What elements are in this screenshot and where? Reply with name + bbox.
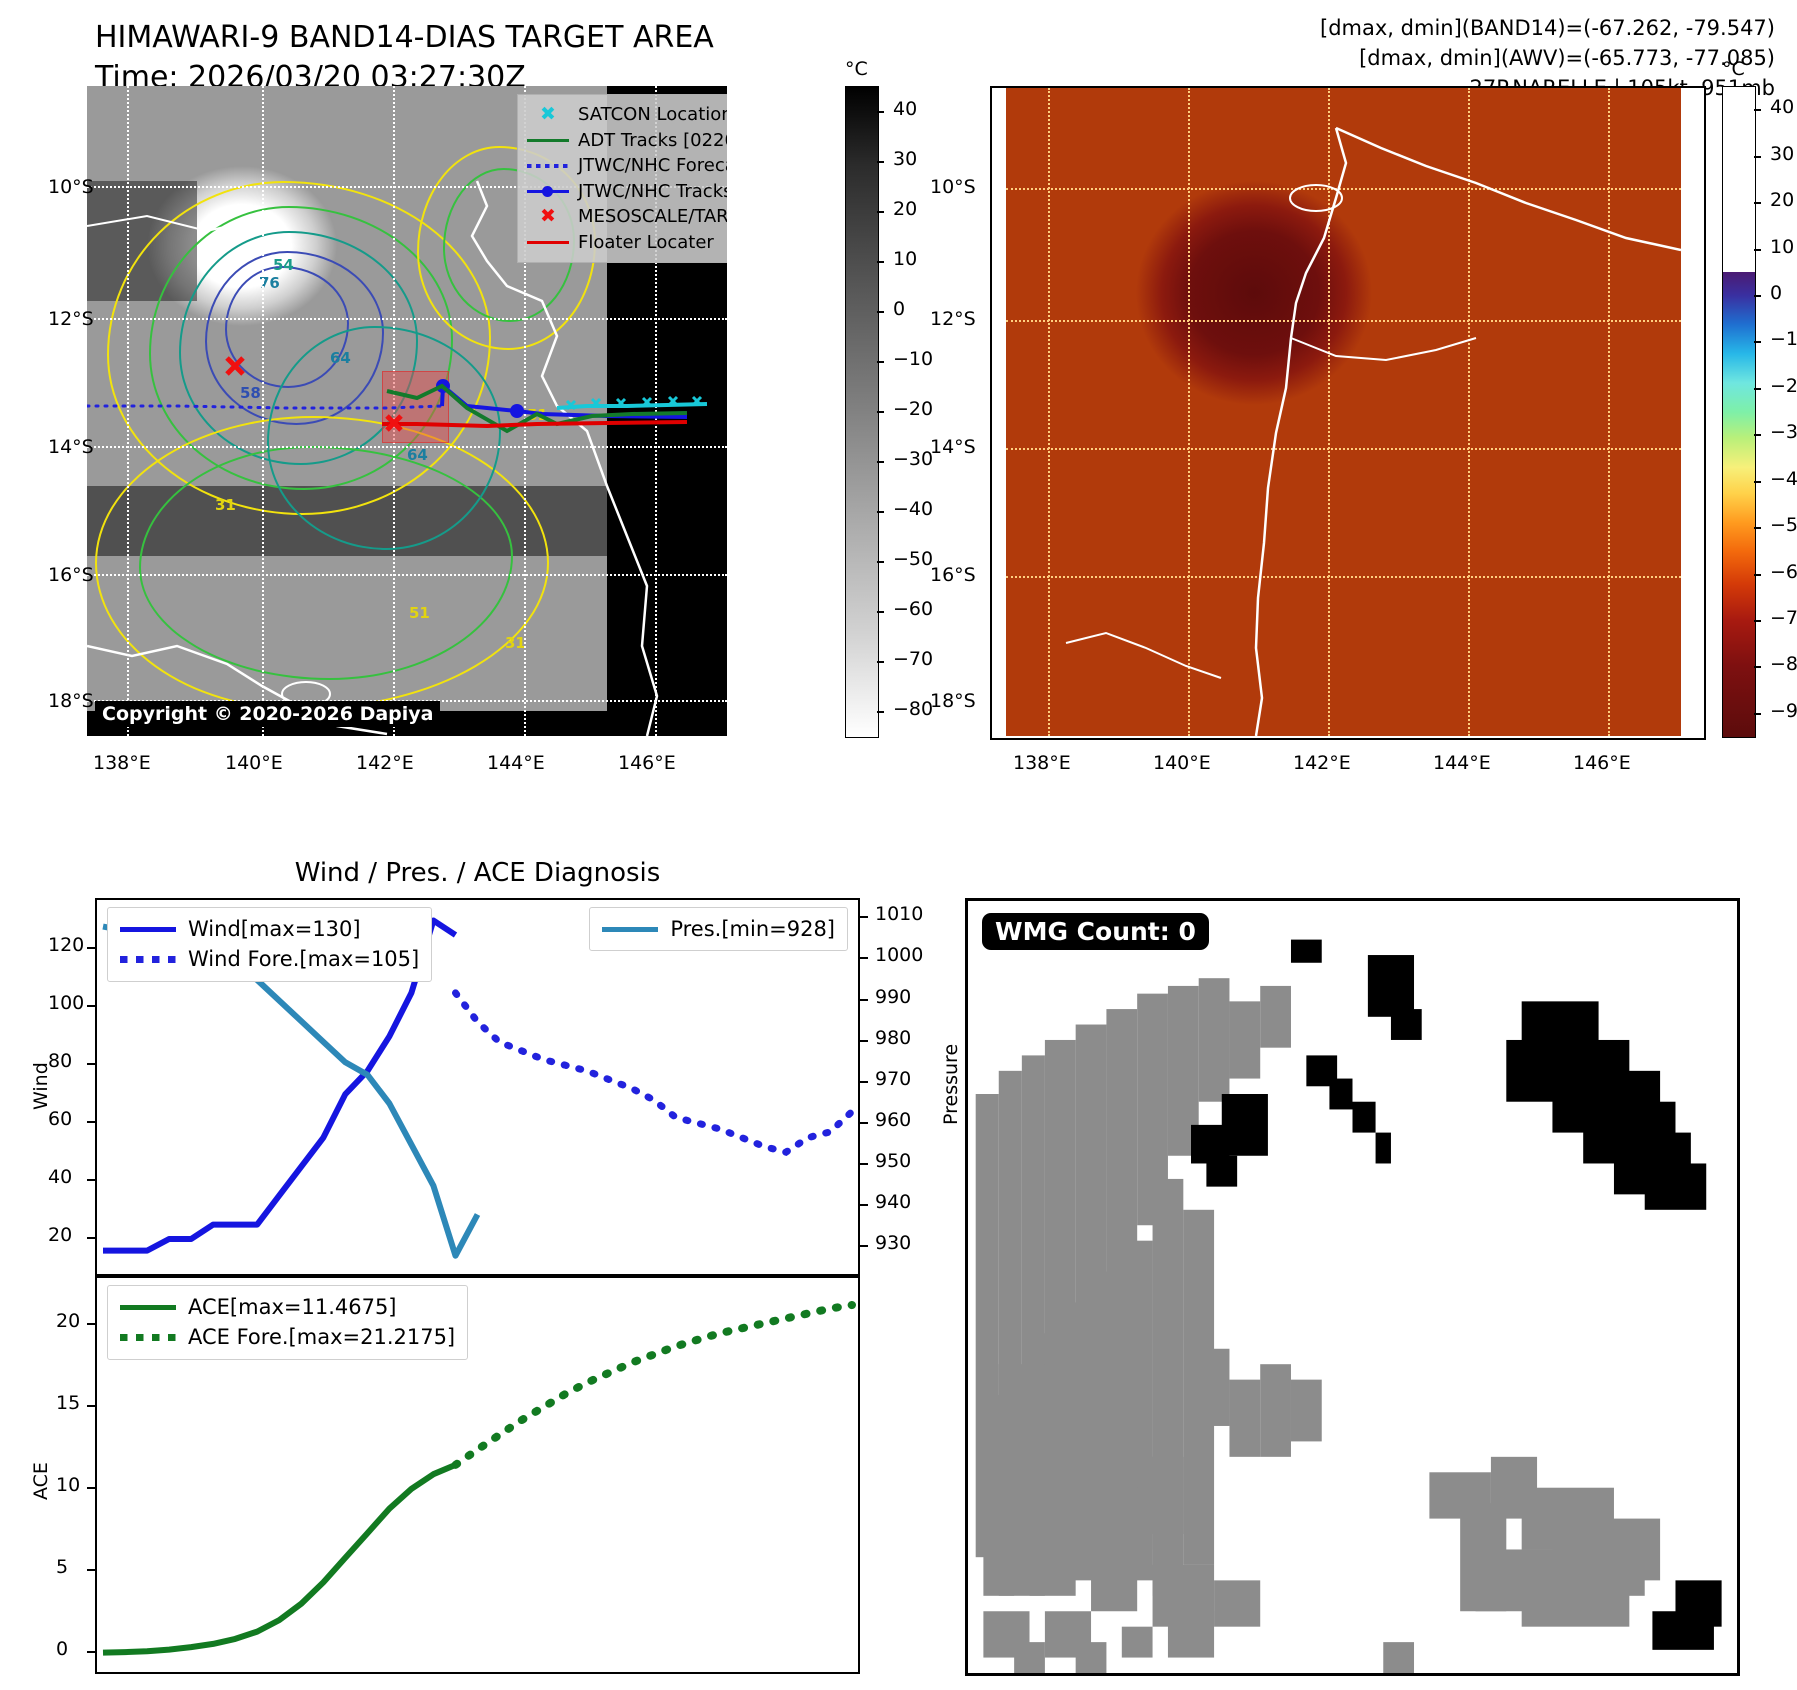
legend-label: ACE[max=11.4675] xyxy=(188,1292,397,1322)
eir-lon-tick: 144°E xyxy=(1433,752,1491,774)
wmg-black-cell xyxy=(1329,1079,1352,1110)
ir-lon-tick: 142°E xyxy=(356,752,414,774)
eir-lat-tick: 18°S xyxy=(930,690,976,712)
pressure-legend: Pres.[min=928] xyxy=(589,907,848,951)
colorbar-tick-label: −80 xyxy=(1770,653,1797,675)
wind-tick-label: 120 xyxy=(48,934,84,956)
wmg-gray-cell xyxy=(1291,1380,1322,1442)
colorbar-tick-mark xyxy=(877,711,884,713)
ace-tick-label: 20 xyxy=(56,1310,80,1332)
ir-map-panel[interactable]: 76 64 64 58 51 51 31 31 54 xyxy=(87,86,727,736)
wmg-black-cell xyxy=(1206,1156,1237,1187)
ace-tick-label: 5 xyxy=(56,1556,68,1578)
ace-tick-label: 0 xyxy=(56,1638,68,1660)
ir-lon-tick: 144°E xyxy=(487,752,545,774)
wmg-black-cell xyxy=(1391,1009,1422,1040)
legend-item-wind-forecast[interactable]: Wind Fore.[max=105] xyxy=(120,944,419,974)
wind-forecast-series-line xyxy=(456,993,853,1152)
floater-locater xyxy=(382,422,687,426)
ir-lat-tick: 12°S xyxy=(48,308,94,330)
enhanced-ir-panel[interactable] xyxy=(990,86,1706,740)
legend-item-jtwc-tracks[interactable]: JTWC/NHC Tracks [20/0000Z] xyxy=(526,179,727,205)
colorbar-tick-label: −60 xyxy=(1770,561,1797,583)
ir-lat-tick: 18°S xyxy=(48,690,94,712)
legend-item-floater[interactable]: Floater Locater xyxy=(526,230,727,256)
wind-tick-label: 100 xyxy=(48,992,84,1014)
legend-item-mesoscale[interactable]: ✖ MESOSCALE/TARGET Location xyxy=(526,204,727,230)
satcon-locations xyxy=(557,404,707,408)
colorbar-tick-label: −50 xyxy=(1770,514,1797,536)
ace-tick-mark xyxy=(87,1405,95,1407)
legend-label: ADT Tracks [0220Z 0.0 0.0] xyxy=(578,128,727,154)
colorbar-tick-label: −90 xyxy=(1770,700,1797,722)
pressure-tick-label: 960 xyxy=(875,1109,911,1131)
colorbar-tick-label: −10 xyxy=(1770,328,1797,350)
pressure-tick-label: 990 xyxy=(875,986,911,1008)
pressure-tick-mark xyxy=(860,999,868,1001)
wmg-gray-cell xyxy=(1122,1627,1153,1658)
colorbar-tick-mark xyxy=(877,511,884,513)
colorbar-tick-label: 40 xyxy=(893,98,917,120)
pressure-tick-mark xyxy=(860,1040,868,1042)
dotted-line-icon xyxy=(120,950,178,970)
dashboard-root: HIMAWARI-9 BAND14-DIAS TARGET AREA Time:… xyxy=(0,0,1797,1690)
colorbar-tick-mark xyxy=(877,111,884,113)
colorbar-tick-mark xyxy=(1754,434,1761,436)
wind-tick-mark xyxy=(87,1237,95,1239)
colorbar-tick-mark xyxy=(877,211,884,213)
diagnosis-title: Wind / Pres. / ACE Diagnosis xyxy=(95,858,860,888)
colorbar-tick-label: 20 xyxy=(1770,189,1794,211)
ace-tick-mark xyxy=(87,1569,95,1571)
wmg-black-cell xyxy=(1368,955,1414,1017)
colorbar-tick-label: −10 xyxy=(893,348,933,370)
eir-lat-tick: 16°S xyxy=(930,564,976,586)
colorbar-grayscale xyxy=(845,86,879,738)
colorbar-tick-label: 40 xyxy=(1770,96,1794,118)
colorbar-unit-label: °C xyxy=(845,58,868,80)
colorbar-tick-label: −80 xyxy=(893,698,933,720)
legend-label: Wind Fore.[max=105] xyxy=(188,944,419,974)
eir-lon-tick: 138°E xyxy=(1013,752,1071,774)
ace-legend: ACE[max=11.4675] ACE Fore.[max=21.2175] xyxy=(107,1285,468,1360)
pressure-tick-mark xyxy=(860,1245,868,1247)
ace-axis-label: ACE xyxy=(30,1462,52,1500)
ir-lon-tick: 140°E xyxy=(225,752,283,774)
wmg-gray-cell xyxy=(1076,1642,1107,1673)
wind-tick-mark xyxy=(87,1063,95,1065)
colorbar-tick-mark xyxy=(1754,574,1761,576)
wmg-gray-cell xyxy=(1199,1349,1230,1426)
legend-item-jtwc-forecast[interactable]: JTWC/NHC Forecast [20/0000Z] xyxy=(526,153,727,179)
pressure-tick-mark xyxy=(860,916,868,918)
legend-label: JTWC/NHC Tracks [20/0000Z] xyxy=(578,179,727,205)
pressure-tick-mark xyxy=(860,1081,868,1083)
wind-tick-mark xyxy=(87,1005,95,1007)
ace-tick-mark xyxy=(87,1487,95,1489)
ace-tick-mark xyxy=(87,1651,95,1653)
wind-tick-mark xyxy=(87,947,95,949)
pressure-tick-mark xyxy=(860,1163,868,1165)
colorbar-tick-label: 0 xyxy=(1770,282,1782,304)
colorbar-tick-mark xyxy=(1754,109,1761,111)
pressure-axis-label: Pressure xyxy=(940,1044,962,1125)
ir-lat-tick: 16°S xyxy=(48,564,94,586)
colorbar-tick-label: 0 xyxy=(893,298,905,320)
colorbar-tick-mark xyxy=(877,361,884,363)
eir-lat-tick: 14°S xyxy=(930,436,976,458)
ace-tick-mark xyxy=(87,1323,95,1325)
ir-lat-tick: 14°S xyxy=(48,436,94,458)
legend-item-wind[interactable]: Wind[max=130] xyxy=(120,914,419,944)
legend-item-pressure[interactable]: Pres.[min=928] xyxy=(602,914,835,944)
legend-item-satcon[interactable]: ✖ SATCON Locations [2100Z 132 930] xyxy=(526,102,727,128)
wind-tick-label: 80 xyxy=(48,1050,72,1072)
wmg-gray-cell xyxy=(1214,1580,1260,1626)
coastline xyxy=(1006,88,1681,736)
eir-lon-tick: 140°E xyxy=(1153,752,1211,774)
solid-line-icon xyxy=(120,1297,178,1317)
wmg-panel[interactable]: WMG Count: 0 xyxy=(965,898,1740,1676)
wmg-gray-cell xyxy=(1229,1001,1260,1078)
colorbar-tick-label: −20 xyxy=(893,398,933,420)
colorbar-tick-mark xyxy=(1754,527,1761,529)
map-legend: ✖ SATCON Locations [2100Z 132 930] ADT T… xyxy=(517,94,727,263)
pressure-tick-label: 930 xyxy=(875,1232,911,1254)
mesoscale-target-marker xyxy=(227,358,243,374)
colorbar-tick-label: −70 xyxy=(893,648,933,670)
colorbar-tick-mark xyxy=(1754,249,1761,251)
colorbar-tick-mark xyxy=(1754,156,1761,158)
wind-legend: Wind[max=130] Wind Fore.[max=105] xyxy=(107,907,432,982)
solid-line-icon xyxy=(602,919,660,939)
wmg-pixel-map xyxy=(968,901,1737,1673)
wmg-black-cell xyxy=(1291,940,1322,963)
colorbar-tick-mark xyxy=(1754,620,1761,622)
legend-item-ace[interactable]: ACE[max=11.4675] xyxy=(120,1292,455,1322)
pressure-tick-label: 970 xyxy=(875,1068,911,1090)
wmg-gray-cell xyxy=(1199,978,1230,1102)
colorbar-tick-mark xyxy=(1754,481,1761,483)
x-marker-icon: ✖ xyxy=(526,106,570,124)
colorbar-tick-mark xyxy=(877,411,884,413)
wind-tick-mark xyxy=(87,1179,95,1181)
wind-pressure-chart[interactable]: Wind[max=130] Wind Fore.[max=105] Pres.[… xyxy=(95,898,860,1276)
pressure-tick-label: 940 xyxy=(875,1191,911,1213)
wmg-gray-cell xyxy=(1260,1364,1291,1457)
ace-tick-label: 10 xyxy=(56,1474,80,1496)
ace-tick-label: 15 xyxy=(56,1392,80,1414)
pressure-tick-mark xyxy=(860,1122,868,1124)
wmg-gray-cell xyxy=(1091,1549,1137,1611)
wind-tick-label: 20 xyxy=(48,1224,72,1246)
track-point xyxy=(510,404,524,418)
legend-label: Floater Locater xyxy=(578,230,714,256)
wmg-black-cell xyxy=(1652,1611,1714,1650)
colorbar-tick-mark xyxy=(1754,341,1761,343)
colorbar-tick-mark xyxy=(1754,666,1761,668)
colorbar-tick-mark xyxy=(877,261,884,263)
dotted-line-icon xyxy=(120,1328,178,1348)
eir-lon-tick: 142°E xyxy=(1293,752,1351,774)
wmg-gray-cell xyxy=(1168,1611,1214,1657)
pressure-tick-mark xyxy=(860,957,868,959)
colorbar-tick-mark xyxy=(877,161,884,163)
solid-line-icon xyxy=(120,919,178,939)
ace-series-line xyxy=(103,1465,456,1653)
colorbar-tick-mark xyxy=(1754,713,1761,715)
wmg-gray-cell xyxy=(1476,1549,1538,1611)
dotted-line-icon xyxy=(526,157,570,175)
pressure-tick-label: 1000 xyxy=(875,944,923,966)
colorbar-enhanced-ir xyxy=(1722,86,1756,738)
legend-label: Wind[max=130] xyxy=(188,914,361,944)
wind-tick-label: 60 xyxy=(48,1108,72,1130)
colorbar-tick-label: 30 xyxy=(893,148,917,170)
jtwc-forecast-track xyxy=(87,406,442,408)
x-marker-icon: ✖ xyxy=(526,208,570,226)
colorbar-unit-label: °C xyxy=(1722,58,1745,80)
colorbar-tick-mark xyxy=(877,661,884,663)
colorbar-tick-label: −30 xyxy=(893,448,933,470)
wmg-gray-cell xyxy=(1260,986,1291,1048)
colorbar-tick-mark xyxy=(877,561,884,563)
ace-chart[interactable]: ACE[max=11.4675] ACE Fore.[max=21.2175] xyxy=(95,1276,860,1674)
colorbar-tick-mark xyxy=(1754,295,1761,297)
solid-line-icon xyxy=(526,234,570,252)
wmg-gray-cell xyxy=(1229,1380,1260,1457)
ir-lon-tick: 138°E xyxy=(93,752,151,774)
wind-tick-label: 40 xyxy=(48,1166,72,1188)
solid-line-icon xyxy=(526,131,570,149)
legend-label: MESOSCALE/TARGET Location xyxy=(578,204,727,230)
wmg-gray-cell xyxy=(1122,1488,1153,1550)
pressure-tick-mark xyxy=(860,1204,868,1206)
colorbar-tick-mark xyxy=(877,611,884,613)
ir-lon-tick: 146°E xyxy=(618,752,676,774)
wmg-black-cell xyxy=(1645,1163,1707,1209)
pressure-tick-label: 980 xyxy=(875,1027,911,1049)
stat-awv: [dmax, dmin](AWV)=(-65.773, -77.085) xyxy=(1320,44,1775,74)
colorbar-tick-label: −40 xyxy=(893,498,933,520)
eir-lat-tick: 10°S xyxy=(930,176,976,198)
colorbar-tick-mark xyxy=(877,461,884,463)
legend-item-ace-forecast[interactable]: ACE Fore.[max=21.2175] xyxy=(120,1322,455,1352)
title-line: HIMAWARI-9 BAND14-DIAS TARGET AREA xyxy=(95,18,714,58)
eir-lon-tick: 146°E xyxy=(1573,752,1631,774)
legend-label: JTWC/NHC Forecast [20/0000Z] xyxy=(578,153,727,179)
colorbar-tick-label: 10 xyxy=(893,248,917,270)
line-with-dot-icon xyxy=(526,182,570,200)
wmg-gray-cell xyxy=(1522,1580,1630,1626)
colorbar-tick-label: −50 xyxy=(893,548,933,570)
wmg-count-badge: WMG Count: 0 xyxy=(982,913,1209,950)
ace-forecast-series-line xyxy=(456,1305,853,1465)
colorbar-tick-mark xyxy=(1754,388,1761,390)
legend-item-adt[interactable]: ADT Tracks [0220Z 0.0 0.0] xyxy=(526,128,727,154)
eir-lat-tick: 12°S xyxy=(930,308,976,330)
colorbar-tick-label: 10 xyxy=(1770,236,1794,258)
copyright-notice: Copyright © 2020-2026 Dapiya xyxy=(95,701,440,727)
legend-label: SATCON Locations [2100Z 132 930] xyxy=(578,102,727,128)
colorbar-tick-label: −30 xyxy=(1770,421,1797,443)
wmg-gray-cell xyxy=(1014,1642,1045,1673)
pressure-tick-label: 1010 xyxy=(875,903,923,925)
colorbar-tick-mark xyxy=(877,311,884,313)
wmg-black-cell xyxy=(1376,1133,1391,1164)
ir-lat-tick: 10°S xyxy=(48,176,94,198)
wmg-gray-cell xyxy=(1383,1642,1414,1673)
wmg-gray-cell xyxy=(1153,1457,1184,1534)
colorbar-tick-label: −70 xyxy=(1770,607,1797,629)
colorbar-tick-label: −60 xyxy=(893,598,933,620)
colorbar-tick-label: 30 xyxy=(1770,143,1794,165)
pressure-tick-label: 950 xyxy=(875,1150,911,1172)
wind-tick-mark xyxy=(87,1121,95,1123)
colorbar-tick-label: −40 xyxy=(1770,468,1797,490)
legend-label: ACE Fore.[max=21.2175] xyxy=(188,1322,455,1352)
colorbar-tick-label: 20 xyxy=(893,198,917,220)
legend-label: Pres.[min=928] xyxy=(670,914,835,944)
colorbar-tick-label: −20 xyxy=(1770,375,1797,397)
wmg-black-cell xyxy=(1537,1055,1568,1086)
wmg-black-cell xyxy=(1353,1102,1376,1133)
stat-band14: [dmax, dmin](BAND14)=(-67.262, -79.547) xyxy=(1320,14,1775,44)
colorbar-tick-mark xyxy=(1754,202,1761,204)
wmg-gray-cell xyxy=(983,1395,1014,1596)
